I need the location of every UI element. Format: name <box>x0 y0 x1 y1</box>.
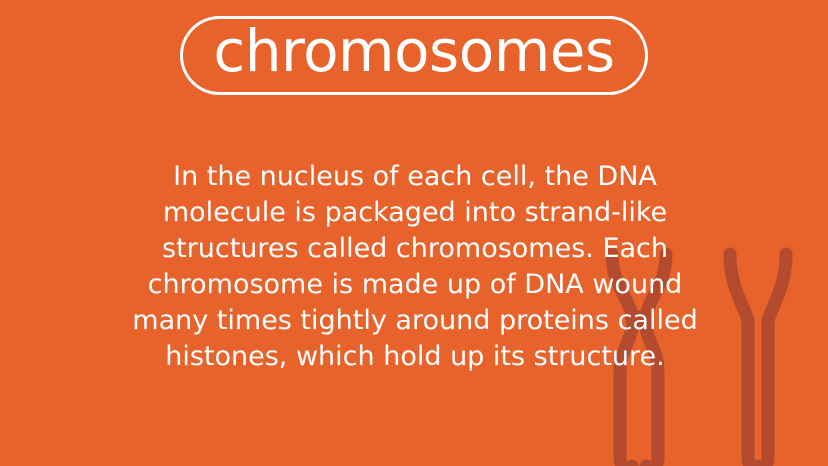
slide-body-text: In the nucleus of each cell, the DNA mol… <box>120 159 710 374</box>
slide-body-container: In the nucleus of each cell, the DNA mol… <box>120 132 710 401</box>
slide-root: chromosomes In the nucleus of each cell,… <box>0 0 828 466</box>
slide-title-pill: chromosomes <box>180 16 647 95</box>
slide-title-container: chromosomes <box>0 16 828 95</box>
page-title: chromosomes <box>213 21 614 82</box>
